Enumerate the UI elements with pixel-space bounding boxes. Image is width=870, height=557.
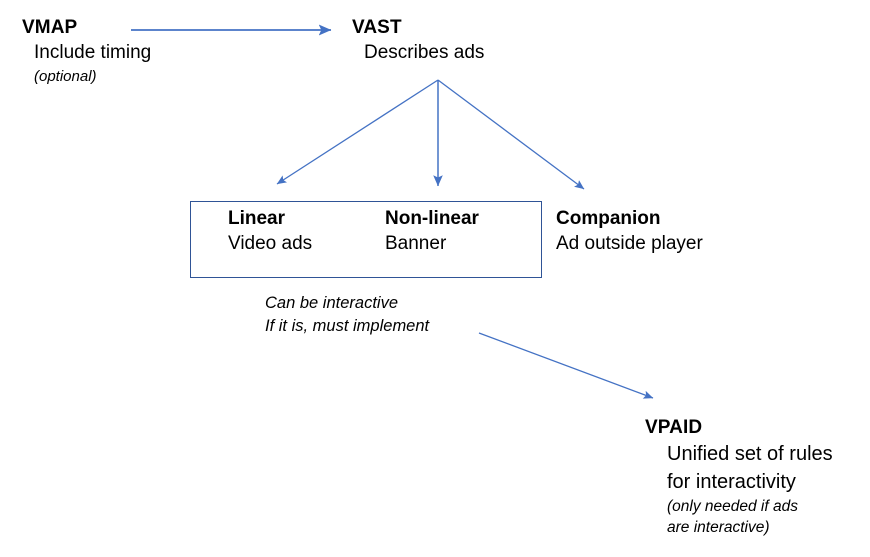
node-vmap-description: Include timing xyxy=(22,40,151,66)
node-companion-title: Companion xyxy=(556,206,703,231)
node-nonlinear-description: Banner xyxy=(385,231,479,257)
node-vmap-note: (optional) xyxy=(22,66,151,87)
node-vpaid-description-line2: for interactivity xyxy=(645,468,833,496)
node-companion: Companion Ad outside player xyxy=(556,206,703,257)
arrow-vast-to-companion xyxy=(438,80,584,189)
annotation-interactive-line1: Can be interactive xyxy=(265,292,429,315)
node-nonlinear-title: Non-linear xyxy=(385,206,479,231)
node-linear: Linear Video ads xyxy=(228,206,312,257)
node-vpaid-title: VPAID xyxy=(645,416,833,440)
node-nonlinear: Non-linear Banner xyxy=(385,206,479,257)
node-vmap: VMAP Include timing (optional) xyxy=(22,16,151,87)
node-vast-description: Describes ads xyxy=(352,40,484,66)
arrow-types-to-vpaid xyxy=(479,333,653,398)
node-vpaid-description-line1: Unified set of rules xyxy=(645,440,833,468)
annotation-interactive: Can be interactive If it is, must implem… xyxy=(265,292,429,338)
diagram-canvas: VMAP Include timing (optional) VAST Desc… xyxy=(0,0,870,557)
node-vpaid-note-line1: (only needed if ads xyxy=(645,496,833,517)
node-linear-description: Video ads xyxy=(228,231,312,257)
node-vmap-title: VMAP xyxy=(22,16,151,40)
arrow-vast-to-linear xyxy=(277,80,438,184)
node-vast: VAST Describes ads xyxy=(352,16,484,66)
node-vpaid-note-line2: are interactive) xyxy=(645,517,833,538)
node-linear-title: Linear xyxy=(228,206,312,231)
node-vast-title: VAST xyxy=(352,16,484,40)
node-vpaid: VPAID Unified set of rules for interacti… xyxy=(645,416,833,538)
annotation-interactive-line2: If it is, must implement xyxy=(265,315,429,338)
node-companion-description: Ad outside player xyxy=(556,231,703,257)
